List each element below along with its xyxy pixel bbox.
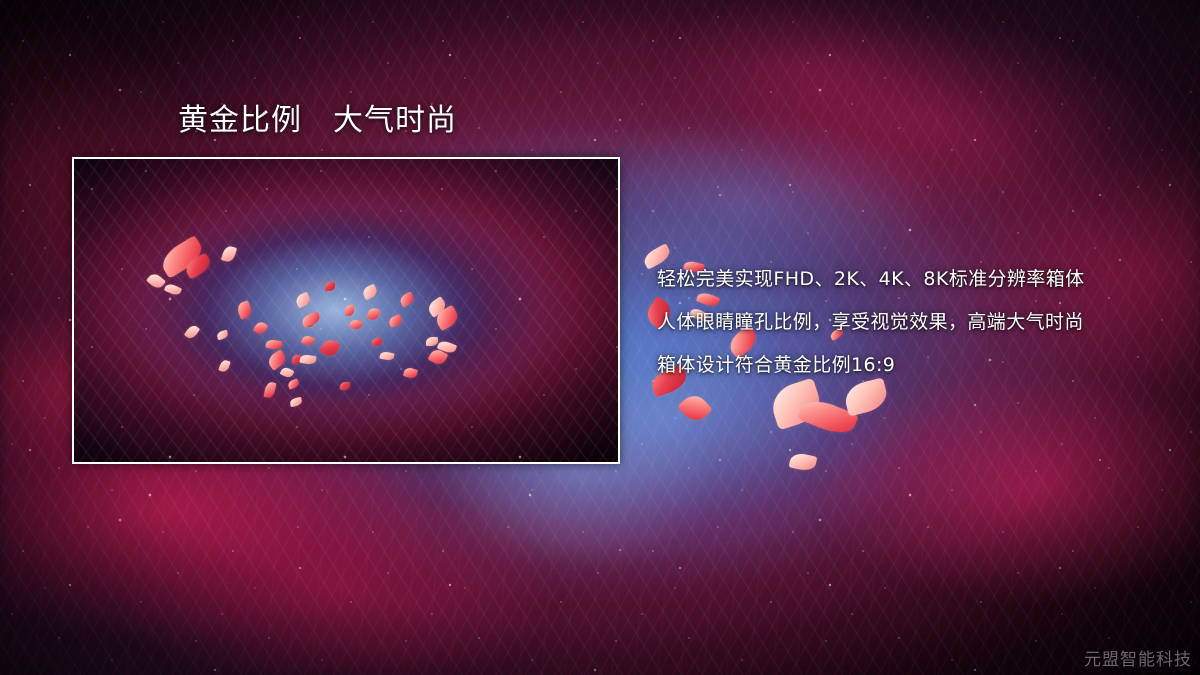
preview-nebula-base <box>74 159 618 462</box>
petal <box>280 366 295 380</box>
petal <box>287 378 300 389</box>
petal <box>398 291 416 307</box>
petal <box>361 284 379 301</box>
petal <box>379 351 394 362</box>
petal <box>253 320 269 336</box>
petal <box>266 349 289 371</box>
petal <box>426 296 449 318</box>
petal <box>289 397 302 407</box>
petal <box>294 292 312 309</box>
petal <box>388 314 404 328</box>
description-line-1: 轻松完美实现FHD、2K、4K、8K标准分辨率箱体 <box>657 258 1157 301</box>
description-text-block: 轻松完美实现FHD、2K、4K、8K标准分辨率箱体 人体眼睛瞳孔比例，享受视觉效… <box>657 258 1157 387</box>
petal <box>301 311 322 327</box>
petal <box>292 355 301 364</box>
petal <box>146 271 166 290</box>
petal <box>263 381 276 399</box>
petal <box>299 354 316 366</box>
preview-image <box>74 159 618 462</box>
petal <box>236 300 254 319</box>
petal <box>428 347 449 367</box>
petal <box>340 382 350 390</box>
preview-image-frame[interactable] <box>72 157 620 464</box>
description-line-3: 箱体设计符合黄金比例16:9 <box>657 344 1157 387</box>
petal <box>403 366 418 380</box>
petal <box>426 337 438 346</box>
petal <box>218 359 231 373</box>
petal <box>305 320 314 327</box>
petal <box>349 319 363 331</box>
petal <box>372 338 382 346</box>
petal <box>433 305 461 332</box>
petal <box>221 245 237 264</box>
petal <box>183 253 214 280</box>
description-line-2: 人体眼睛瞳孔比例，享受视觉效果，高端大气时尚 <box>657 301 1157 344</box>
preview-nebula-filaments <box>74 159 618 462</box>
petal <box>319 337 340 358</box>
petal <box>301 334 315 347</box>
petal <box>325 282 335 291</box>
petal <box>157 235 207 279</box>
slide-canvas: 黄金比例 大气时尚 轻松完美实现FHD、2K、4K、8K标准分辨率箱体 人体眼睛… <box>0 0 1200 675</box>
petal <box>797 394 859 439</box>
petal <box>345 305 354 316</box>
petal <box>789 451 818 472</box>
petal <box>184 323 200 340</box>
petal <box>437 339 457 355</box>
petal <box>366 307 380 322</box>
page-title: 黄金比例 大气时尚 <box>178 102 457 140</box>
petal <box>164 282 182 297</box>
petal <box>216 330 229 341</box>
petal <box>265 339 282 351</box>
petal <box>677 390 712 425</box>
watermark: 元盟智能科技 <box>1084 645 1192 670</box>
preview-starfield <box>74 159 618 462</box>
